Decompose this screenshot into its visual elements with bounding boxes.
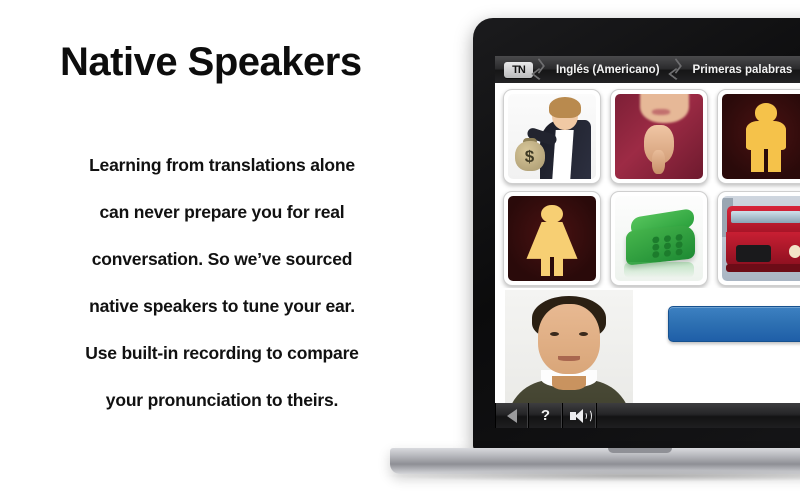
breadcrumb: TN Inglés (Americano) Primeras palabras … [495,56,800,83]
tn-logo-icon[interactable]: TN [504,62,533,78]
back-arrow-icon [507,409,517,423]
womens-restroom-sign-photo [508,196,596,281]
chevron-right-icon [670,56,683,83]
image-tile-bus[interactable] [717,191,800,286]
body-line: Learning from translations alone [22,142,422,189]
image-tile-womens-restroom[interactable] [503,191,601,286]
marketing-body: Learning from translations alone can nev… [22,142,422,424]
native-speaker-portrait [505,290,633,403]
double-decker-bus-photo [722,196,800,281]
image-tile-money[interactable]: $ [503,89,601,184]
image-tile-thumbs-down[interactable] [610,89,708,184]
help-button[interactable]: ? [529,403,563,428]
thumbs-down-photo [615,94,703,179]
body-line: can never prepare you for real [22,189,422,236]
laptop-shadow [380,470,800,482]
body-line: native speakers to tune your ear. [22,283,422,330]
body-line: conversation. So we’ve sourced [22,236,422,283]
promo-screenshot: Native Speakers Learning from translatio… [0,0,800,500]
laptop-bezel: TN Inglés (Americano) Primeras palabras … [495,56,800,428]
breadcrumb-item-unit[interactable]: Primeras palabras [683,64,800,76]
laptop-mockup: TN Inglés (Americano) Primeras palabras … [455,0,800,500]
chevron-right-icon [533,56,546,83]
volume-button[interactable] [563,403,597,428]
businesswoman-money-photo: $ [508,94,596,179]
image-grid-row: $ [503,89,800,184]
question-mark-icon: ? [541,408,550,423]
page-title: Native Speakers [60,42,362,82]
body-line: Use built-in recording to compare [22,330,422,377]
app-toolbar: ? [495,403,800,428]
image-tile-telephone[interactable] [610,191,708,286]
mens-restroom-sign-photo [722,94,800,179]
speaker-icon [570,409,590,423]
image-grid: $ [495,83,800,288]
green-telephone-photo [615,196,703,281]
back-button[interactable] [495,403,529,428]
image-tile-mens-restroom[interactable] [717,89,800,184]
answer-panel: bathr [495,288,800,403]
answer-word-bar[interactable]: bathr [668,306,800,342]
laptop-lid: TN Inglés (Americano) Primeras palabras … [473,18,800,450]
image-grid-row [503,191,800,286]
marketing-copy: Native Speakers Learning from translatio… [0,0,455,500]
breadcrumb-item-language[interactable]: Inglés (Americano) [546,64,670,76]
app-screen: TN Inglés (Americano) Primeras palabras … [495,56,800,428]
body-line: your pronunciation to theirs. [22,377,422,424]
